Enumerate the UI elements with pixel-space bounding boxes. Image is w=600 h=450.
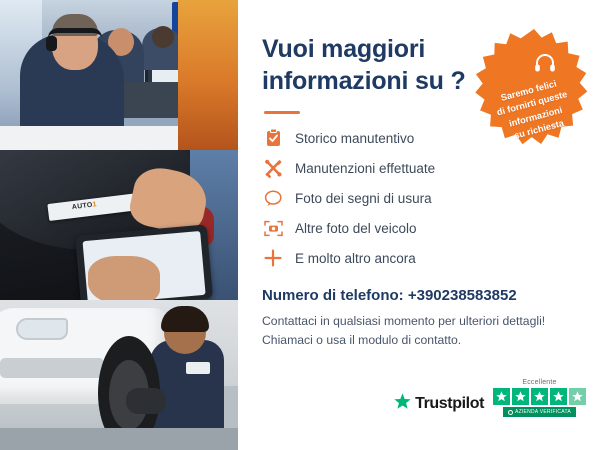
list-item-label: Storico manutentivo (295, 131, 414, 146)
contact-note-line-1: Contattaci in qualsiasi momento per ulte… (262, 314, 545, 328)
rating-caption: Eccellente (522, 379, 556, 386)
title-divider (264, 111, 300, 114)
star-partial (569, 388, 586, 405)
contact-note-line-2: Chiamaci o usa il modulo di contatto. (262, 333, 461, 347)
photo-frame-icon (262, 217, 284, 239)
verified-label: AZIENDA VERIFICATA (515, 409, 571, 415)
list-item: Manutenzioni effettuate (262, 157, 578, 179)
star-filled (512, 388, 529, 405)
phone-line: Numero di telefono: +390238583852 (262, 287, 578, 304)
photo-wheel-service (0, 300, 238, 450)
tools-cross-icon (262, 157, 284, 179)
wall-sign (172, 2, 216, 36)
page-title: Vuoi maggiori informazioni su ? (262, 34, 467, 97)
clipboard-check-icon (262, 127, 284, 149)
trustpilot-widget[interactable]: Trustpilot Eccellente (394, 379, 586, 417)
headset-earcup (46, 36, 57, 51)
list-item: Altre foto del veicolo (262, 217, 578, 239)
star-filled (531, 388, 548, 405)
verified-check-icon (508, 410, 513, 415)
technician-glove (126, 388, 166, 414)
front-grille (0, 358, 104, 378)
colleague-far-head (152, 26, 174, 48)
star-rating (493, 388, 586, 405)
contact-note: Contattaci in qualsiasi momento per ulte… (262, 312, 578, 350)
phone-label: Numero di telefono: (262, 287, 404, 304)
headline-line-2: informazioni su ? (262, 67, 466, 95)
star-filled (550, 388, 567, 405)
status-badge: AZIENDA VERIFICATA (503, 407, 576, 417)
promo-card: AUTO1 Vuoi maggiori informazioni su ? (0, 0, 600, 450)
list-item-label: E molto altro ancora (295, 251, 416, 266)
photo-strip: AUTO1 (0, 0, 238, 450)
technician-hand-lower (88, 256, 160, 300)
technician-hair (161, 306, 209, 332)
phone-number[interactable]: +390238583852 (408, 287, 517, 304)
trustpilot-rating: Eccellente (493, 379, 586, 417)
trustpilot-wordmark: Trustpilot (415, 395, 484, 413)
desk-surface (0, 126, 238, 150)
list-item-label: Altre foto del veicolo (295, 221, 417, 236)
laptop (117, 82, 185, 118)
list-item-label: Foto dei segni di usura (295, 191, 432, 206)
speech-bubble-icon (262, 187, 284, 209)
trustpilot-brand: Trustpilot (394, 393, 484, 417)
workshop-floor (0, 428, 238, 450)
plus-icon (262, 247, 284, 269)
photo-sticker-inspection: AUTO1 (0, 150, 238, 300)
list-item-label: Manutenzioni effettuate (295, 161, 435, 176)
trustpilot-star-icon (394, 393, 411, 415)
list-item: E molto altro ancora (262, 247, 578, 269)
info-panel: Vuoi maggiori informazioni su ? Storico … (238, 0, 600, 450)
star-filled (493, 388, 510, 405)
callout-starburst-badge: Saremo felici di fornirti queste informa… (472, 27, 596, 151)
photo-call-center (0, 0, 238, 150)
headline-line-1: Vuoi maggiori (262, 35, 425, 63)
headlight (16, 318, 68, 340)
uniform-logo (186, 362, 210, 374)
list-item: Foto dei segni di usura (262, 187, 578, 209)
